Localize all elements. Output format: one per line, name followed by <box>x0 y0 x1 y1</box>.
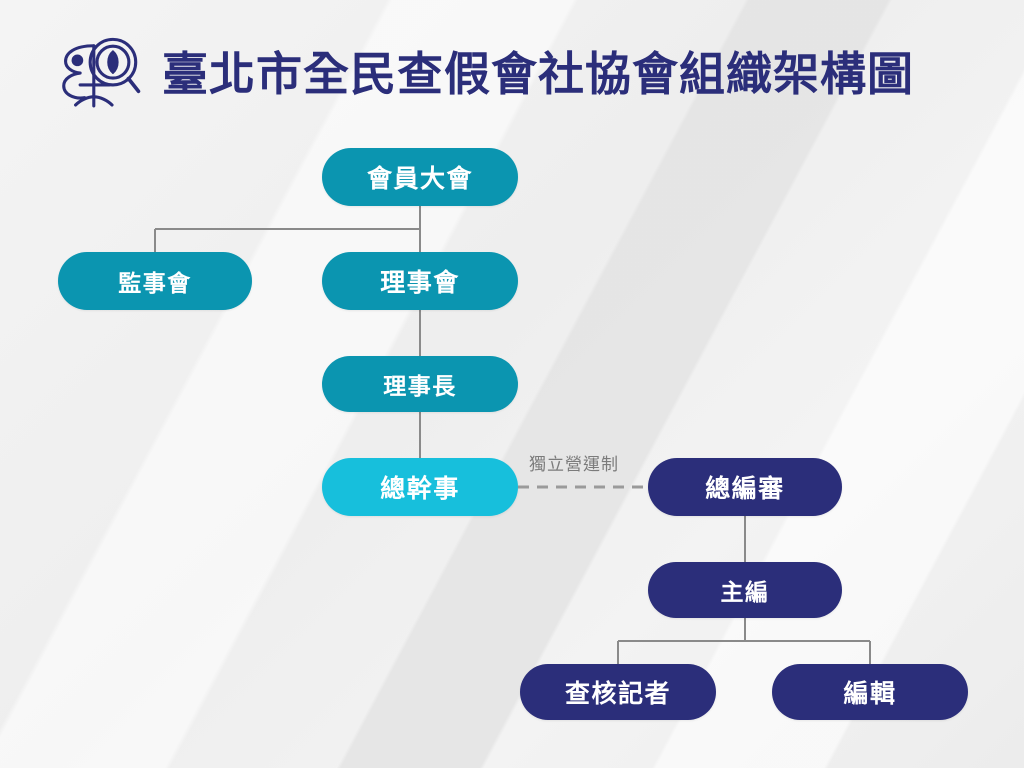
org-node-secretary-general[interactable]: 總幹事 <box>322 458 518 516</box>
org-node-assembly-label: 會員大會 <box>367 159 473 195</box>
org-node-chairman[interactable]: 理事長 <box>322 356 518 412</box>
org-node-assembly[interactable]: 會員大會 <box>322 148 518 206</box>
org-node-editor-label: 編輯 <box>843 674 896 710</box>
page-title: 臺北市全民查假會社協會組織架構圖 <box>162 51 914 97</box>
org-chart-canvas: 臺北市全民查假會社協會組織架構圖 會員大會 監事會 理事會 理事長 總幹事 總編… <box>0 0 1024 768</box>
org-node-chairman-label: 理事長 <box>383 367 457 401</box>
org-node-directors-label: 理事會 <box>380 263 460 299</box>
org-node-chief-reviewer[interactable]: 總編審 <box>648 458 842 516</box>
edge-annotation-independent-operation: 獨立營運制 <box>529 450 619 475</box>
org-node-supervisors-label: 監事會 <box>118 264 192 298</box>
org-node-fact-check-reporter-label: 查核記者 <box>565 674 671 710</box>
org-node-directors[interactable]: 理事會 <box>322 252 518 310</box>
org-node-fact-check-reporter[interactable]: 查核記者 <box>520 664 716 720</box>
org-node-secretary-general-label: 總幹事 <box>380 469 460 505</box>
header: 臺北市全民查假會社協會組織架構圖 <box>56 38 914 110</box>
org-node-chief-reviewer-label: 總編審 <box>705 469 785 505</box>
org-node-supervisors[interactable]: 監事會 <box>58 252 252 310</box>
magnifier-eye-person-logo-icon <box>56 33 148 115</box>
org-node-chief-editor-label: 主編 <box>721 573 770 607</box>
org-node-chief-editor[interactable]: 主編 <box>648 562 842 618</box>
org-node-editor[interactable]: 編輯 <box>772 664 968 720</box>
